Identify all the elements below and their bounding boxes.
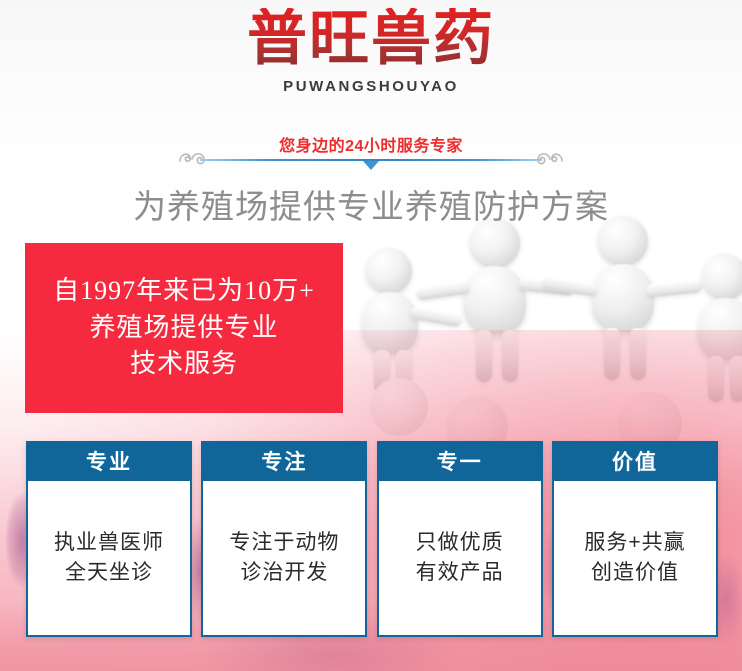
brand-logo: 普旺兽药 PUWANGSHOUYAO (0, 8, 742, 95)
feature-card-line-1: 只做优质 (416, 528, 504, 558)
feature-card-body: 服务+共赢 创造价值 (552, 481, 718, 637)
slogan-band: 您身边的24小时服务专家 (0, 132, 742, 172)
feature-card-zhuanyi[interactable]: 专一 只做优质 有效产品 (377, 441, 543, 637)
slogan-text: 您身边的24小时服务专家 (0, 132, 742, 156)
headline: 为养殖场提供专业养殖防护方案 (0, 180, 742, 228)
feature-card-body: 专注于动物 诊治开发 (201, 481, 367, 637)
brand-pinyin: PUWANGSHOUYAO (0, 78, 742, 95)
feature-card-zhuanye[interactable]: 专业 执业兽医师 全天坐诊 (26, 441, 192, 637)
feature-card-body: 只做优质 有效产品 (377, 481, 543, 637)
feature-card-line-1: 执业兽医师 (54, 528, 164, 558)
feature-card-line-2: 诊治开发 (240, 558, 328, 588)
feature-card-title: 专注 (201, 441, 367, 481)
feature-card-title: 价值 (552, 441, 718, 481)
slogan-pointer-icon (363, 161, 379, 170)
feature-card-jiazhi[interactable]: 价值 服务+共赢 创造价值 (552, 441, 718, 637)
feature-card-line-2: 有效产品 (416, 558, 504, 588)
feature-card-list: 专业 执业兽医师 全天坐诊 专注 专注于动物 诊治开发 专一 只做优质 有效产品… (26, 441, 718, 637)
feature-card-zhuanzhu[interactable]: 专注 专注于动物 诊治开发 (201, 441, 367, 637)
feature-card-title: 专一 (377, 441, 543, 481)
promo-banner: 普旺兽药 PUWANGSHOUYAO 您身边的24小时服务专家 为养殖场提供专业… (0, 0, 742, 671)
feature-card-body: 执业兽医师 全天坐诊 (26, 481, 192, 637)
statement-line-1: 自1997年来已为10万+ (53, 273, 315, 310)
feature-card-line-1: 服务+共赢 (584, 528, 685, 558)
brand-title: 普旺兽药 (0, 8, 742, 71)
statement-block: 自1997年来已为10万+ 养殖场提供专业 技术服务 (25, 243, 343, 413)
feature-card-line-2: 全天坐诊 (65, 558, 153, 588)
feature-card-line-1: 专注于动物 (229, 528, 339, 558)
feature-card-line-2: 创造价值 (591, 558, 679, 588)
statement-line-2: 养殖场提供专业 (89, 310, 278, 347)
statement-line-3: 技术服务 (130, 346, 238, 383)
feature-card-title: 专业 (26, 441, 192, 481)
